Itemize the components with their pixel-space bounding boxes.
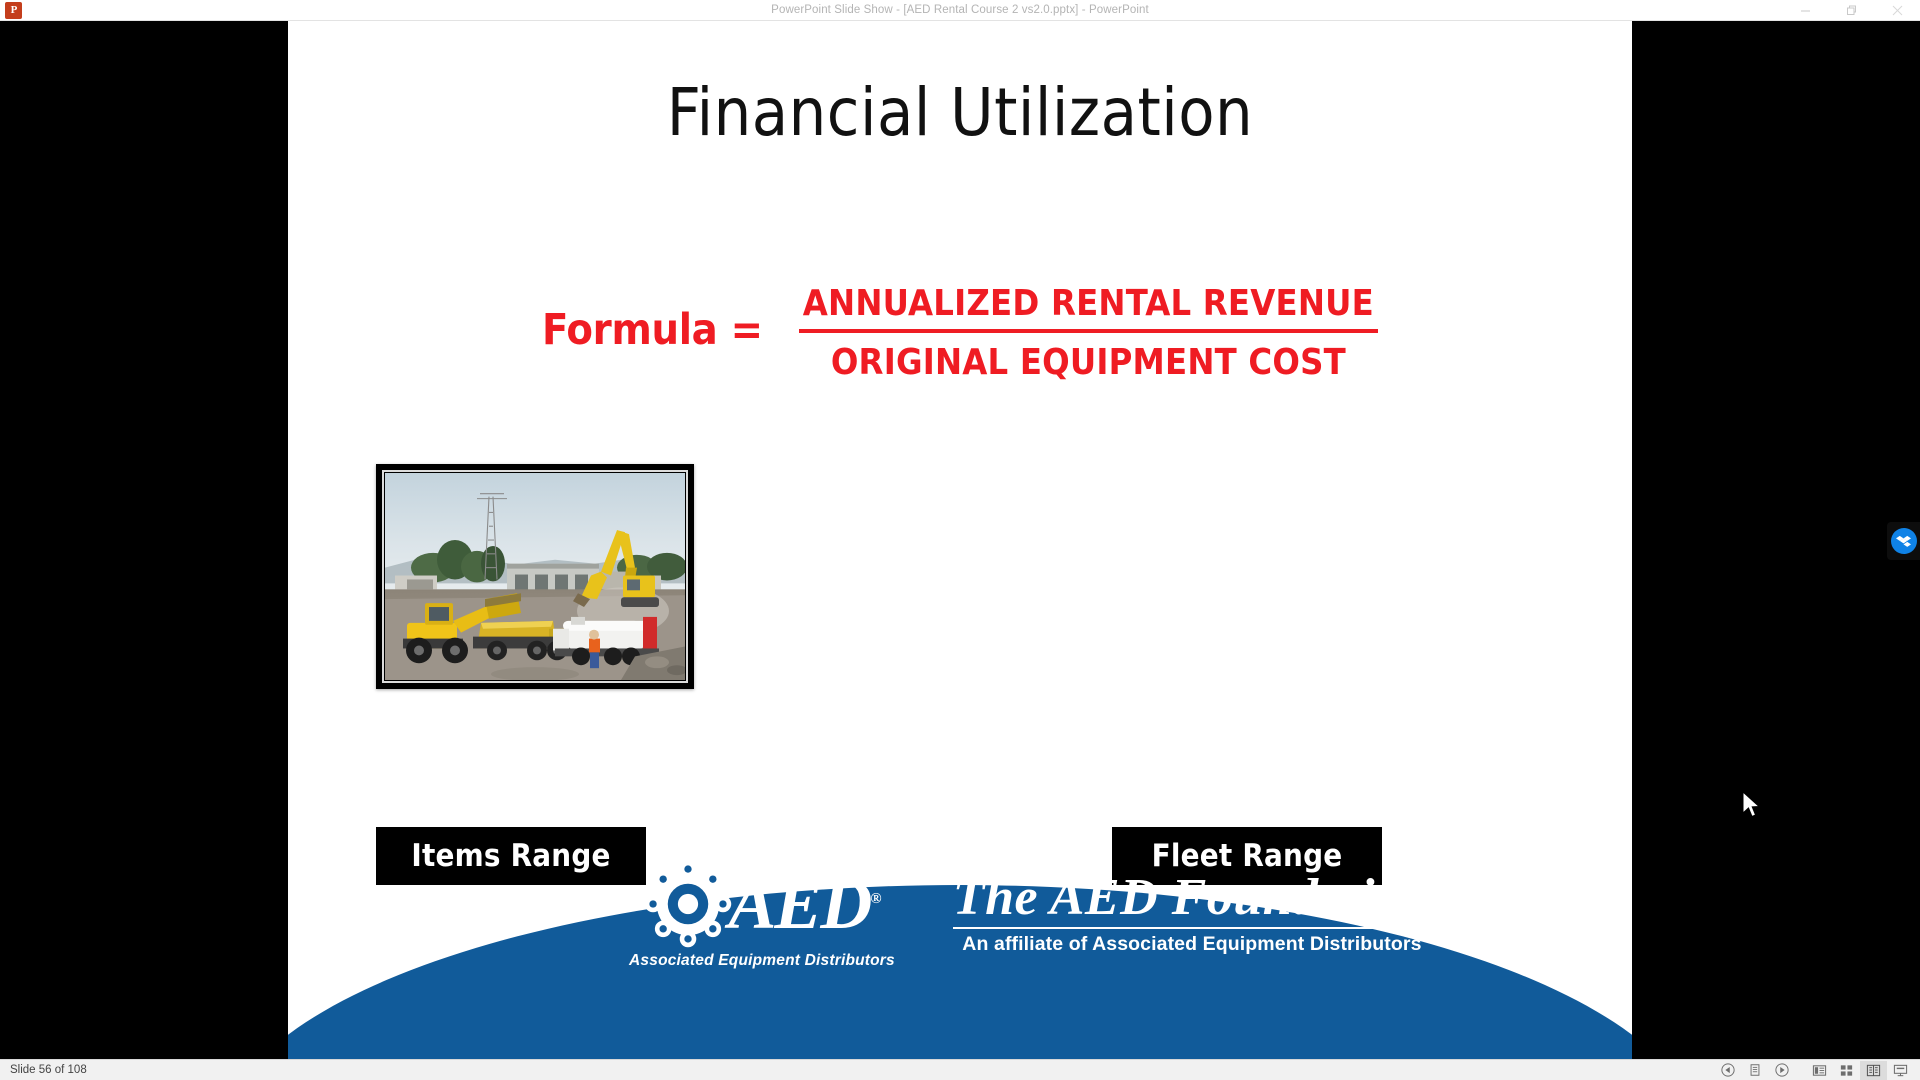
aed-wordmark: AED® — [728, 871, 881, 937]
close-button[interactable] — [1874, 0, 1920, 21]
slide-counter: Slide 56 of 108 — [10, 1064, 87, 1076]
window-title: PowerPoint Slide Show - [AED Rental Cour… — [0, 4, 1920, 16]
aed-tagline: Associated Equipment Distributors — [629, 952, 895, 970]
dropbox-icon[interactable] — [1891, 528, 1917, 554]
slide-title: Financial Utilization — [288, 74, 1632, 151]
aed-logo-row: AED® — [642, 858, 881, 950]
slideshow-icon[interactable] — [1887, 1061, 1914, 1080]
slide-canvas[interactable]: Financial Utilization Formula = ANNUALIZ… — [288, 21, 1632, 1059]
construction-site-photo-frame — [376, 464, 694, 689]
next-slide-icon[interactable] — [1768, 1061, 1795, 1080]
notes-icon[interactable] — [1741, 1061, 1768, 1080]
mouse-cursor — [1742, 791, 1764, 821]
status-bar: Slide 56 of 108 — [0, 1059, 1920, 1080]
minimize-button[interactable] — [1782, 0, 1828, 21]
dropbox-glyph — [1896, 534, 1911, 549]
previous-slide-icon[interactable] — [1714, 1061, 1741, 1080]
dropbox-badge[interactable] — [1887, 522, 1920, 560]
formula-block: Formula = ANNUALIZED RENTAL REVENUE ORIG… — [288, 283, 1632, 383]
powerpoint-icon: P — [5, 2, 22, 19]
formula-numerator: ANNUALIZED RENTAL REVENUE — [799, 283, 1378, 333]
aed-gear-icon — [642, 858, 734, 950]
photo-inner-border — [382, 470, 688, 683]
construction-site-photo — [385, 473, 685, 680]
aed-wordmark-text: AED — [728, 864, 870, 944]
formula-fraction: ANNUALIZED RENTAL REVENUE ORIGINAL EQUIP… — [799, 283, 1378, 383]
reading-view-icon[interactable] — [1860, 1061, 1887, 1080]
formula-label: Formula = — [542, 305, 763, 355]
registered-mark: ® — [870, 891, 881, 907]
formula-denominator: ORIGINAL EQUIPMENT COST — [799, 333, 1378, 383]
slide-sorter-icon[interactable] — [1833, 1061, 1860, 1080]
status-bar-icons — [1714, 1061, 1914, 1080]
foundation-title: The AED Foundation — [953, 872, 1431, 929]
aed-foundation-logo: The AED Foundation An affiliate of Assoc… — [953, 872, 1431, 956]
window-controls — [1782, 0, 1920, 21]
aed-logo: AED® Associated Equipment Distributors — [629, 858, 895, 970]
footer-logos: AED® Associated Equipment Distributors T… — [358, 855, 1632, 973]
title-bar: P PowerPoint Slide Show - [AED Rental Co… — [0, 0, 1920, 21]
normal-view-icon[interactable] — [1806, 1061, 1833, 1080]
restore-button[interactable] — [1828, 0, 1874, 21]
foundation-subtitle: An affiliate of Associated Equipment Dis… — [962, 933, 1421, 956]
